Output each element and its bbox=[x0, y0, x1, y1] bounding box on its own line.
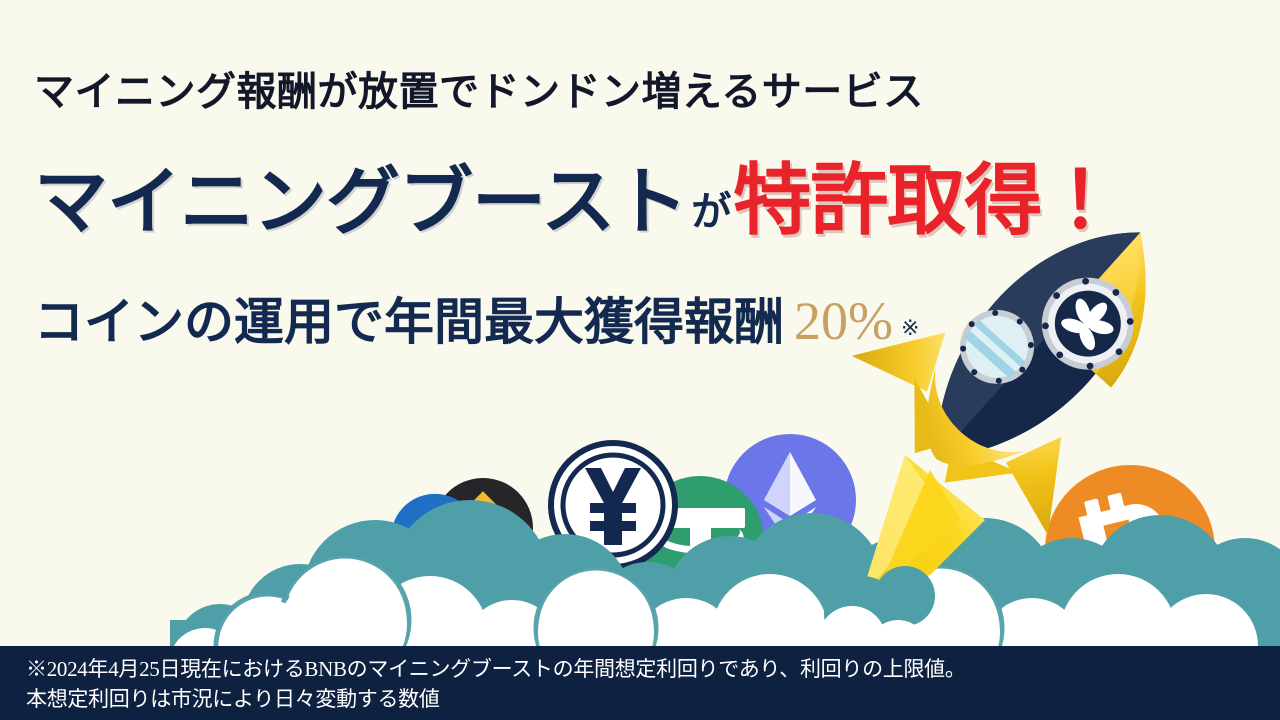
promo-banner: $ bbox=[0, 0, 1280, 720]
subline-text: コインの運用で年間最大獲得報酬 bbox=[34, 297, 784, 347]
disclaimer-line-1: ※2024年4月25日現在におけるBNBのマイニングブーストの年間想定利回りであ… bbox=[26, 654, 1280, 684]
kicker-text: マイニング報酬が放置でドンドン増えるサービス bbox=[34, 72, 924, 112]
text-layer: マイニング報酬が放置でドンドン増えるサービス マイニングブースト が 特許取得！… bbox=[0, 0, 1280, 720]
headline-particle: が bbox=[691, 192, 731, 232]
headline-emphasis: 特許取得！ bbox=[733, 162, 1118, 240]
headline: マイニングブースト が 特許取得！ bbox=[34, 162, 1118, 240]
subline: コインの運用で年間最大獲得報酬 20% ※ bbox=[34, 294, 919, 348]
subline-percent-value: 20% bbox=[794, 294, 893, 348]
footnote-marker-icon: ※ bbox=[901, 317, 919, 339]
disclaimer-bar: ※2024年4月25日現在におけるBNBのマイニングブーストの年間想定利回りであ… bbox=[0, 646, 1280, 720]
disclaimer-line-2: 本想定利回りは市況により日々変動する数値 bbox=[26, 684, 1280, 714]
headline-product-name: マイニングブースト bbox=[34, 166, 687, 240]
